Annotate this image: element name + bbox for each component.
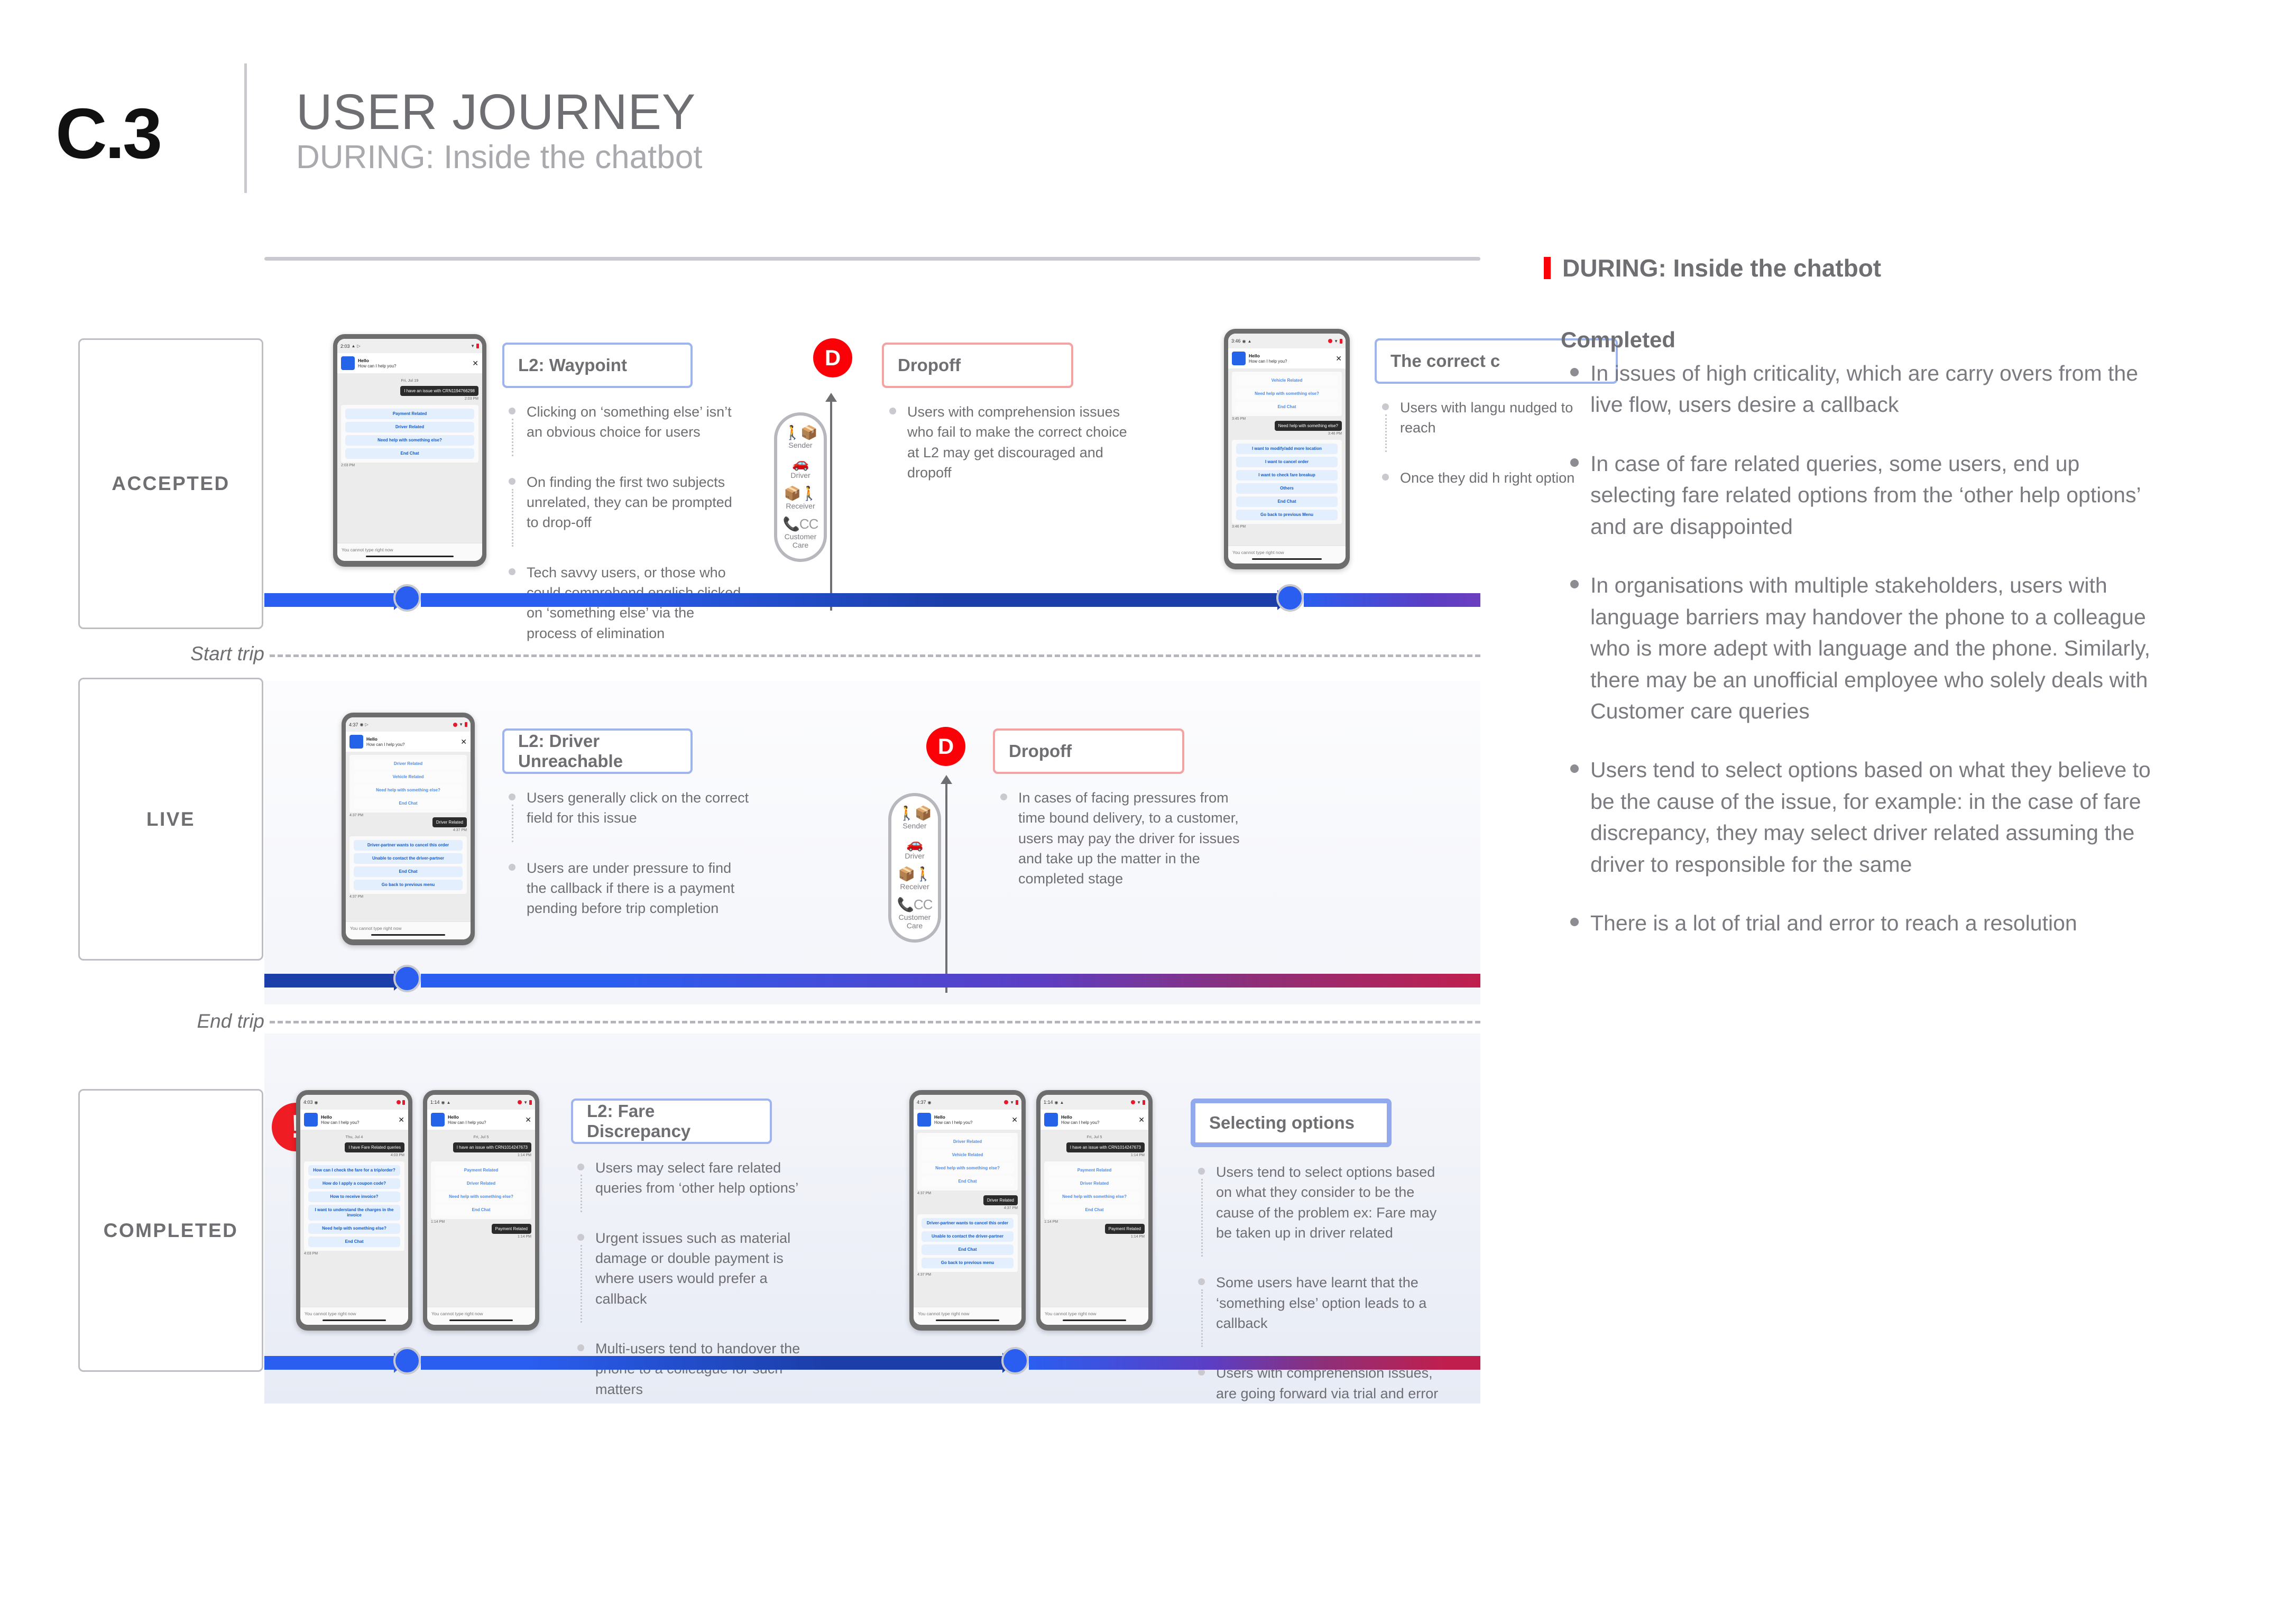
phone-mockup-p2: 3:46 ◉ ▲ ▼ Hello How can I help you? ✕ V… (1224, 329, 1350, 569)
note-item: Users tend to select options based on wh… (1193, 1162, 1441, 1243)
chat-user-message: I have an issue with CRN1014247673 (453, 1142, 531, 1152)
notes-l2-waypoint: Clicking on ‘something else’ isn’t an ob… (503, 402, 747, 657)
chat-date: Fri, Jul 5 (1044, 1134, 1145, 1139)
battery-icon (529, 1100, 532, 1105)
status-time: 2:03 (340, 344, 350, 349)
close-icon[interactable]: ✕ (461, 738, 467, 745)
bullet-icon (1570, 918, 1579, 926)
dropoff-arrow-r2 (945, 781, 947, 993)
timeline-segment (1304, 593, 1480, 607)
chat-option[interactable]: Driver Related (345, 422, 474, 432)
warning-icon: ▲ (1248, 339, 1252, 344)
phone-chat-header: Hello How can I help you? ✕ (427, 1110, 535, 1130)
chat-message-time: 1:14 PM (1044, 1152, 1145, 1157)
note-item: Users generally click on the correct fie… (503, 788, 752, 828)
note-text: Users generally click on the correct fie… (527, 788, 752, 828)
chat-option[interactable]: I want to cancel order (1236, 457, 1338, 467)
cast-icon: ▷ (357, 344, 360, 348)
stage-label-text: ACCEPTED (112, 473, 230, 495)
chat-message-time: 1:14 PM (1044, 1234, 1145, 1239)
chat-option[interactable]: End Chat (345, 448, 474, 459)
card-title: L2: Waypoint (504, 355, 641, 375)
bullet-icon (1198, 1168, 1205, 1175)
status-time: 1:14 (430, 1100, 440, 1105)
chat-option-time: 3:45 PM (1232, 416, 1342, 421)
close-icon[interactable]: ✕ (472, 359, 478, 367)
chat-greeting-sub: How can I help you? (366, 742, 457, 748)
list-item: In organisations with multiple stakehold… (1561, 570, 2152, 727)
warning-icon: ▲ (447, 1100, 451, 1105)
note-connector (512, 805, 513, 842)
bullet-icon (577, 1164, 584, 1170)
record-icon: ◉ (928, 1100, 932, 1105)
chat-input-disabled: You cannot type right now (300, 1307, 408, 1325)
chat-option[interactable]: Vehicle Related (1236, 375, 1338, 386)
bullet-icon (509, 478, 515, 485)
sender-icon: 🚶📦 (779, 425, 822, 440)
alert-dot-icon (1328, 339, 1332, 343)
chat-option[interactable]: Go back to previous menu (354, 880, 463, 890)
list-item: There is a lot of trial and error to rea… (1561, 908, 2152, 939)
page-header: C.3 USER JOURNEY DURING: Inside the chat… (0, 0, 2284, 222)
bullet-text: Users tend to select options based on wh… (1590, 758, 2151, 876)
bullet-text: There is a lot of trial and error to rea… (1590, 911, 2077, 935)
timeline-accepted (264, 593, 1480, 607)
wifi-icon: ▼ (471, 344, 475, 348)
brand-logo-icon (1044, 1113, 1058, 1127)
persona-legend-r2: 🚶📦 Sender 🚗 Driver 📦🚶 Receiver 📞CC Custo… (888, 793, 941, 943)
chat-input-disabled: You cannot type right now (337, 543, 482, 561)
status-time: 4:37 (349, 722, 358, 727)
chat-option[interactable]: Need help with something else? (435, 1192, 527, 1202)
note-connector (581, 1175, 582, 1212)
notes-l2-fare-discrepancy: Users may select fare related queries fr… (572, 1158, 821, 1413)
chat-option[interactable]: Need help with something else? (1236, 389, 1338, 399)
card-dropoff-r1[interactable]: Dropoff (882, 343, 1073, 388)
bullet-icon (1382, 474, 1389, 481)
chat-option[interactable]: Need help with something else? (1048, 1192, 1140, 1202)
chat-user-message: Payment Related (492, 1224, 531, 1234)
list-item: In issues of high criticality, which are… (1561, 358, 2152, 421)
phone-chat-header: Hello How can I help you? ✕ (1040, 1110, 1148, 1130)
header-divider (244, 63, 247, 193)
battery-icon (1143, 1100, 1145, 1105)
chat-greeting: Hello (1061, 1114, 1135, 1120)
note-text: On finding the first two subjects unrela… (527, 472, 747, 533)
diagram-top-rule (264, 257, 1480, 261)
chat-option[interactable]: Need help with something else? (922, 1163, 1014, 1174)
phone-chat-header: Hello How can I help you? ✕ (337, 353, 482, 373)
chat-message-time: 3:46 PM (1232, 431, 1342, 436)
chat-option[interactable]: Payment Related (1048, 1165, 1140, 1176)
note-text: Some users have learnt that the ‘somethi… (1216, 1272, 1441, 1333)
chat-option[interactable]: How to receive invoice? (308, 1192, 400, 1202)
timeline-node[interactable] (393, 965, 421, 992)
chat-message-time: 4:03 PM (304, 1152, 404, 1157)
right-panel-title-row: DURING: Inside the chatbot (1544, 254, 2152, 282)
chat-option[interactable]: End Chat (435, 1205, 527, 1215)
record-icon: ◉ (315, 1100, 318, 1105)
wifi-icon: ▼ (523, 1100, 528, 1105)
chat-greeting: Hello (448, 1114, 522, 1120)
alert-dot-icon (1004, 1100, 1008, 1104)
chat-option[interactable]: Vehicle Related (922, 1150, 1014, 1160)
chat-greeting: Hello (321, 1114, 395, 1120)
list-item: Users tend to select options based on wh… (1561, 754, 2152, 880)
chat-date: Thu, Jul 4 (304, 1134, 404, 1139)
bullet-icon (1000, 793, 1007, 800)
legend-caption: Driver (894, 852, 936, 860)
customer-care-icon: 📞CC (779, 516, 822, 532)
row-separator-1 (270, 654, 1480, 657)
start-trip-label: Start trip (85, 643, 264, 665)
chat-message-time: 1:14 PM (431, 1152, 531, 1157)
notes-selecting-options: Users tend to select options based on wh… (1193, 1162, 1441, 1417)
chat-option[interactable]: Payment Related (435, 1165, 527, 1176)
chat-greeting-sub: How can I help you? (358, 364, 469, 369)
status-time: 3:46 (1231, 338, 1241, 344)
phone-status-bar: 3:46 ◉ ▲ ▼ (1228, 334, 1346, 348)
note-text: Urgent issues such as material damage or… (595, 1228, 821, 1309)
note-text: Users may select fare related queries fr… (595, 1158, 821, 1198)
note-item: Users with comprehension issues who fail… (884, 402, 1132, 483)
card-title: Dropoff (884, 355, 974, 375)
record-icon: ◉ (360, 722, 364, 727)
chat-input-disabled: You cannot type right now (427, 1307, 535, 1325)
chat-greeting-sub: How can I help you? (321, 1120, 395, 1125)
bullet-icon (1570, 580, 1579, 588)
chat-message-time: 2:03 PM (341, 396, 478, 401)
note-item: Users may select fare related queries fr… (572, 1158, 821, 1198)
note-item: Some users have learnt that the ‘somethi… (1193, 1272, 1441, 1333)
chat-greeting: Hello (934, 1114, 1008, 1120)
end-trip-label: End trip (85, 1010, 264, 1032)
legend-caption: Driver (779, 471, 822, 479)
close-icon[interactable]: ✕ (398, 1116, 404, 1123)
chat-options-card: Payment Related Driver Related Need help… (341, 405, 478, 463)
legend-caption: Receiver (894, 882, 936, 891)
bullet-text: In organisations with multiple stakehold… (1590, 573, 2150, 723)
bullet-text: In case of fare related queries, some us… (1590, 451, 2140, 539)
phone-chat-header: Hello How can I help you? ✕ (1228, 348, 1346, 368)
chat-option[interactable]: Driver Related (1048, 1178, 1140, 1189)
note-connector (1385, 414, 1387, 452)
bullet-icon (509, 793, 515, 800)
driver-icon: 🚗 (894, 836, 936, 852)
persona-legend-r1: 🚶📦 Sender 🚗 Driver 📦🚶 Receiver 📞CC Custo… (774, 412, 827, 562)
record-icon: ◉ (1055, 1100, 1058, 1105)
card-l2-driver-unreachable[interactable]: L2: Driver Unreachable (502, 728, 693, 774)
card-selecting-options[interactable]: Selecting options (1191, 1099, 1392, 1147)
chat-greeting: Hello (358, 358, 469, 364)
timeline-segment (421, 974, 1480, 988)
phone-chat-header: Hello How can I help you? ✕ (914, 1110, 1021, 1130)
note-item: Urgent issues such as material damage or… (572, 1228, 821, 1309)
chat-option[interactable]: Payment Related (345, 409, 474, 419)
alert-dot-icon (453, 723, 457, 727)
phone-mockup-p6: 4:37 ◉ ▼ Hello How can I help you? ✕ Dri… (909, 1090, 1026, 1331)
record-icon: ◉ (1242, 339, 1246, 344)
timeline-live (264, 974, 1480, 988)
chat-option[interactable]: How do I apply a coupon code? (308, 1178, 400, 1189)
status-time: 4:37 (917, 1100, 926, 1105)
phone-mockup-p7: 1:14 ◉ ▲ ▼ Hello How can I help you? ✕ F… (1036, 1090, 1153, 1331)
battery-icon (1016, 1100, 1018, 1105)
card-dropoff-r2[interactable]: Dropoff (993, 728, 1184, 774)
chat-user-message: I have an issue with CRN1194766298 (400, 386, 478, 396)
chat-options-card: Driver Related Vehicle Related Need help… (349, 755, 467, 813)
legend-caption: Customer Care (894, 913, 936, 930)
chat-user-message: Driver Related (432, 817, 467, 827)
page-title: USER JOURNEY (296, 84, 696, 141)
bullet-icon (509, 408, 515, 414)
stage-label-live: LIVE (78, 678, 263, 961)
legend-item: 📦🚶 Receiver (894, 866, 936, 891)
card-title: L2: Driver Unreachable (504, 731, 690, 771)
chat-option[interactable]: Driver-partner wants to cancel this orde… (354, 840, 463, 851)
note-connector (1201, 1289, 1203, 1347)
card-title: The correct c (1377, 351, 1514, 371)
row-separator-2 (270, 1021, 1480, 1023)
legend-item: 📞CC Customer Care (779, 516, 822, 549)
warning-icon: ▲ (1060, 1100, 1064, 1105)
bullet-icon (1382, 403, 1389, 410)
brand-logo-icon (304, 1113, 318, 1127)
chat-option-time: 1:14 PM (1044, 1219, 1145, 1224)
chat-greeting-sub: How can I help you? (1061, 1120, 1135, 1125)
bullet-icon (509, 864, 515, 871)
receiver-icon: 📦🚶 (894, 866, 936, 882)
timeline-segment (264, 1356, 394, 1370)
battery-icon (476, 344, 479, 348)
chat-option[interactable]: End Chat (1236, 496, 1338, 507)
phone-mockup-p4: 4:03 ◉ Hello How can I help you? ✕ Thu, … (296, 1090, 412, 1331)
card-l2-waypoint[interactable]: L2: Waypoint (502, 343, 693, 388)
phone-status-bar: 4:37 ◉ ▷ ▼ (346, 717, 471, 732)
chat-options-card: I want to modify/add more location I wan… (1232, 440, 1342, 524)
brand-logo-icon (917, 1113, 931, 1127)
chat-options-card: Payment Related Driver Related Need help… (1044, 1161, 1145, 1219)
card-title: L2: Fare Discrepancy (573, 1101, 770, 1141)
chat-option[interactable]: Go back to previous Menu (1236, 510, 1338, 520)
chat-greeting: Hello (1249, 353, 1332, 359)
chat-option-time: 4:03 PM (304, 1251, 404, 1256)
phone-status-bar: 1:14 ◉ ▲ ▼ (427, 1095, 535, 1110)
legend-caption: Sender (894, 822, 936, 830)
chat-greeting-sub: How can I help you? (934, 1120, 1008, 1125)
bullet-icon (1570, 368, 1579, 376)
chat-options-card: Driver-partner wants to cancel this orde… (917, 1214, 1018, 1272)
chat-option-time: 4:37 PM (349, 813, 467, 817)
warning-icon: ▲ (352, 344, 356, 348)
chat-input-disabled: You cannot type right now (1228, 546, 1346, 564)
timeline-segment (421, 593, 1277, 607)
cast-icon: ▷ (365, 722, 369, 727)
note-text: Clicking on ‘something else’ isn’t an ob… (527, 402, 747, 442)
wifi-icon: ▼ (1137, 1100, 1141, 1105)
chat-option[interactable]: End Chat (922, 1244, 1014, 1255)
note-text: Users tend to select options based on wh… (1216, 1162, 1441, 1243)
bullet-icon (1198, 1278, 1205, 1285)
legend-item: 🚶📦 Sender (894, 806, 936, 830)
chat-option[interactable]: End Chat (922, 1176, 1014, 1187)
phone-status-bar: 4:37 ◉ ▼ (914, 1095, 1021, 1110)
note-connector (512, 489, 513, 547)
phone-mockup-p3: 4:37 ◉ ▷ ▼ Hello How can I help you? ✕ D… (342, 713, 475, 945)
brand-logo-icon (431, 1113, 445, 1127)
page-subtitle: DURING: Inside the chatbot (296, 139, 702, 176)
status-time: 1:14 (1044, 1100, 1053, 1105)
chat-option[interactable]: How can I check the fare for a trip/orde… (308, 1165, 400, 1176)
chat-option[interactable]: End Chat (1048, 1205, 1140, 1215)
card-title: Dropoff (995, 741, 1085, 761)
chat-option[interactable]: Driver-partner wants to cancel this orde… (922, 1218, 1014, 1229)
chat-option[interactable]: I want to modify/add more location (1236, 444, 1338, 454)
chat-option[interactable]: End Chat (354, 866, 463, 877)
slide-code: C.3 (56, 93, 160, 174)
phone-status-bar: 2:03 ▲ ▷ ▼ (337, 339, 482, 353)
brand-logo-icon (341, 356, 355, 370)
legend-item: 🚗 Driver (894, 836, 936, 861)
close-icon[interactable]: ✕ (1336, 355, 1342, 362)
sender-icon: 🚶📦 (894, 806, 936, 821)
chat-option[interactable]: End Chat (354, 798, 463, 809)
card-l2-fare-discrepancy[interactable]: L2: Fare Discrepancy (571, 1099, 772, 1144)
timeline-completed (264, 1356, 1480, 1370)
chat-option[interactable]: Unable to contact the driver-partner (354, 853, 463, 864)
note-item: Users are under pressure to find the cal… (503, 858, 752, 919)
chat-greeting: Hello (366, 736, 457, 742)
chat-options-card: Driver-partner wants to cancel this orde… (349, 836, 467, 894)
chat-option[interactable]: End Chat (1236, 402, 1338, 412)
bullet-icon (509, 568, 515, 575)
legend-caption: Sender (779, 441, 822, 449)
chat-option[interactable]: Driver Related (354, 759, 463, 769)
timeline-node[interactable] (1001, 1347, 1029, 1374)
note-item: In cases of facing pressures from time b… (995, 788, 1244, 889)
chat-greeting-sub: How can I help you? (1249, 359, 1332, 364)
chat-option[interactable]: Vehicle Related (354, 772, 463, 782)
chat-message-time: 4:37 PM (349, 827, 467, 832)
battery-icon (465, 722, 467, 727)
battery-icon (1340, 339, 1342, 344)
close-icon[interactable]: ✕ (525, 1116, 531, 1123)
close-icon[interactable]: ✕ (1138, 1116, 1145, 1123)
note-connector (1201, 1179, 1203, 1257)
chat-option[interactable]: Driver Related (435, 1178, 527, 1189)
timeline-node[interactable] (393, 584, 421, 612)
dropoff-marker-r2: D (926, 727, 965, 766)
chat-options-card: Driver Related Vehicle Related Need help… (917, 1133, 1018, 1191)
legend-caption: Receiver (779, 502, 822, 510)
chat-option[interactable]: Need help with something else? (308, 1223, 400, 1234)
chat-options-card: Vehicle Related Need help with something… (1232, 372, 1342, 416)
chat-user-message: Driver Related (983, 1195, 1018, 1205)
legend-caption: Customer Care (779, 532, 822, 549)
wifi-icon: ▼ (1010, 1100, 1014, 1105)
stage-label-text: COMPLETED (104, 1220, 238, 1242)
note-item: On finding the first two subjects unrela… (503, 472, 747, 533)
chat-date: Fri, Jul 5 (431, 1134, 531, 1139)
timeline-node[interactable] (393, 1347, 421, 1374)
notes-l2-driver-unreachable: Users generally click on the correct fie… (503, 788, 752, 933)
legend-item: 🚗 Driver (779, 456, 822, 480)
right-panel: DURING: Inside the chatbot Completed In … (1544, 254, 2152, 967)
alert-dot-icon (397, 1100, 401, 1104)
note-item: Clicking on ‘something else’ isn’t an ob… (503, 402, 747, 442)
chat-option[interactable]: Others (1236, 483, 1338, 494)
chat-greeting-sub: How can I help you? (448, 1120, 522, 1125)
chat-option[interactable]: I want to understand the charges in the … (308, 1205, 400, 1221)
chat-options-card: How can I check the fare for a trip/orde… (304, 1161, 404, 1251)
chat-user-message: I have Fare Related queries (345, 1142, 404, 1152)
chat-option-time: 4:37 PM (917, 1272, 1018, 1277)
chat-option[interactable]: Unable to contact the driver-partner (922, 1231, 1014, 1242)
alert-dot-icon (518, 1100, 522, 1104)
status-time: 4:03 (303, 1100, 313, 1105)
chat-option-time: 4:37 PM (917, 1191, 1018, 1195)
legend-item: 📞CC Customer Care (894, 897, 936, 930)
chat-option-time: 4:37 PM (349, 894, 467, 899)
alert-dot-icon (1131, 1100, 1135, 1104)
legend-item: 🚶📦 Sender (779, 425, 822, 449)
driver-icon: 🚗 (779, 456, 822, 471)
bullet-icon (889, 408, 896, 414)
phone-mockup-p5: 1:14 ◉ ▲ ▼ Hello How can I help you? ✕ F… (423, 1090, 539, 1331)
chat-user-message: Need help with something else? (1275, 421, 1342, 431)
right-panel-bullet-list: In issues of high criticality, which are… (1544, 358, 2152, 939)
notes-dropoff-r2: In cases of facing pressures from time b… (995, 788, 1244, 903)
chat-option[interactable]: Go back to previous menu (922, 1258, 1014, 1268)
chat-option[interactable]: Driver Related (922, 1137, 1014, 1147)
note-connector (512, 419, 513, 456)
chat-option[interactable]: Need help with something else? (354, 785, 463, 796)
close-icon[interactable]: ✕ (1011, 1116, 1018, 1123)
bullet-icon (577, 1344, 584, 1351)
chat-option-time: 1:14 PM (431, 1219, 531, 1224)
chat-option[interactable]: I want to check fare breakup (1236, 470, 1338, 481)
chat-options-card: Payment Related Driver Related Need help… (431, 1161, 531, 1219)
chat-user-message: Payment Related (1105, 1224, 1145, 1234)
bullet-icon (1570, 764, 1579, 773)
chat-user-message: I have an issue with CRN1014247673 (1066, 1142, 1145, 1152)
dropoff-arrow-r1 (830, 399, 832, 611)
stage-label-completed: COMPLETED (78, 1089, 263, 1372)
accent-bar-icon (1544, 257, 1551, 279)
chat-option[interactable]: Need help with something else? (345, 435, 474, 446)
wifi-icon: ▼ (1334, 339, 1338, 344)
customer-care-icon: 📞CC (894, 897, 936, 912)
dropoff-marker-r1: D (813, 338, 852, 377)
bullet-icon (1570, 458, 1579, 467)
bullet-icon (577, 1234, 584, 1241)
timeline-node[interactable] (1276, 584, 1304, 612)
battery-icon (402, 1100, 405, 1105)
chat-input-disabled: You cannot type right now (346, 921, 471, 939)
phone-chat-header: Hello How can I help you? ✕ (346, 732, 471, 752)
receiver-icon: 📦🚶 (779, 486, 822, 501)
timeline-segment (264, 593, 394, 607)
record-icon: ◉ (441, 1100, 445, 1105)
wifi-icon: ▼ (459, 722, 463, 727)
brand-logo-icon (349, 735, 363, 749)
phone-mockup-p1: 2:03 ▲ ▷ ▼ Hello How can I help you? ✕ F… (333, 334, 486, 567)
stage-label-text: LIVE (146, 808, 195, 831)
chat-option[interactable]: End Chat (308, 1237, 400, 1247)
card-title: Selecting options (1195, 1113, 1368, 1133)
chat-input-disabled: You cannot type right now (914, 1307, 1021, 1325)
chat-message-time: 1:14 PM (431, 1234, 531, 1239)
